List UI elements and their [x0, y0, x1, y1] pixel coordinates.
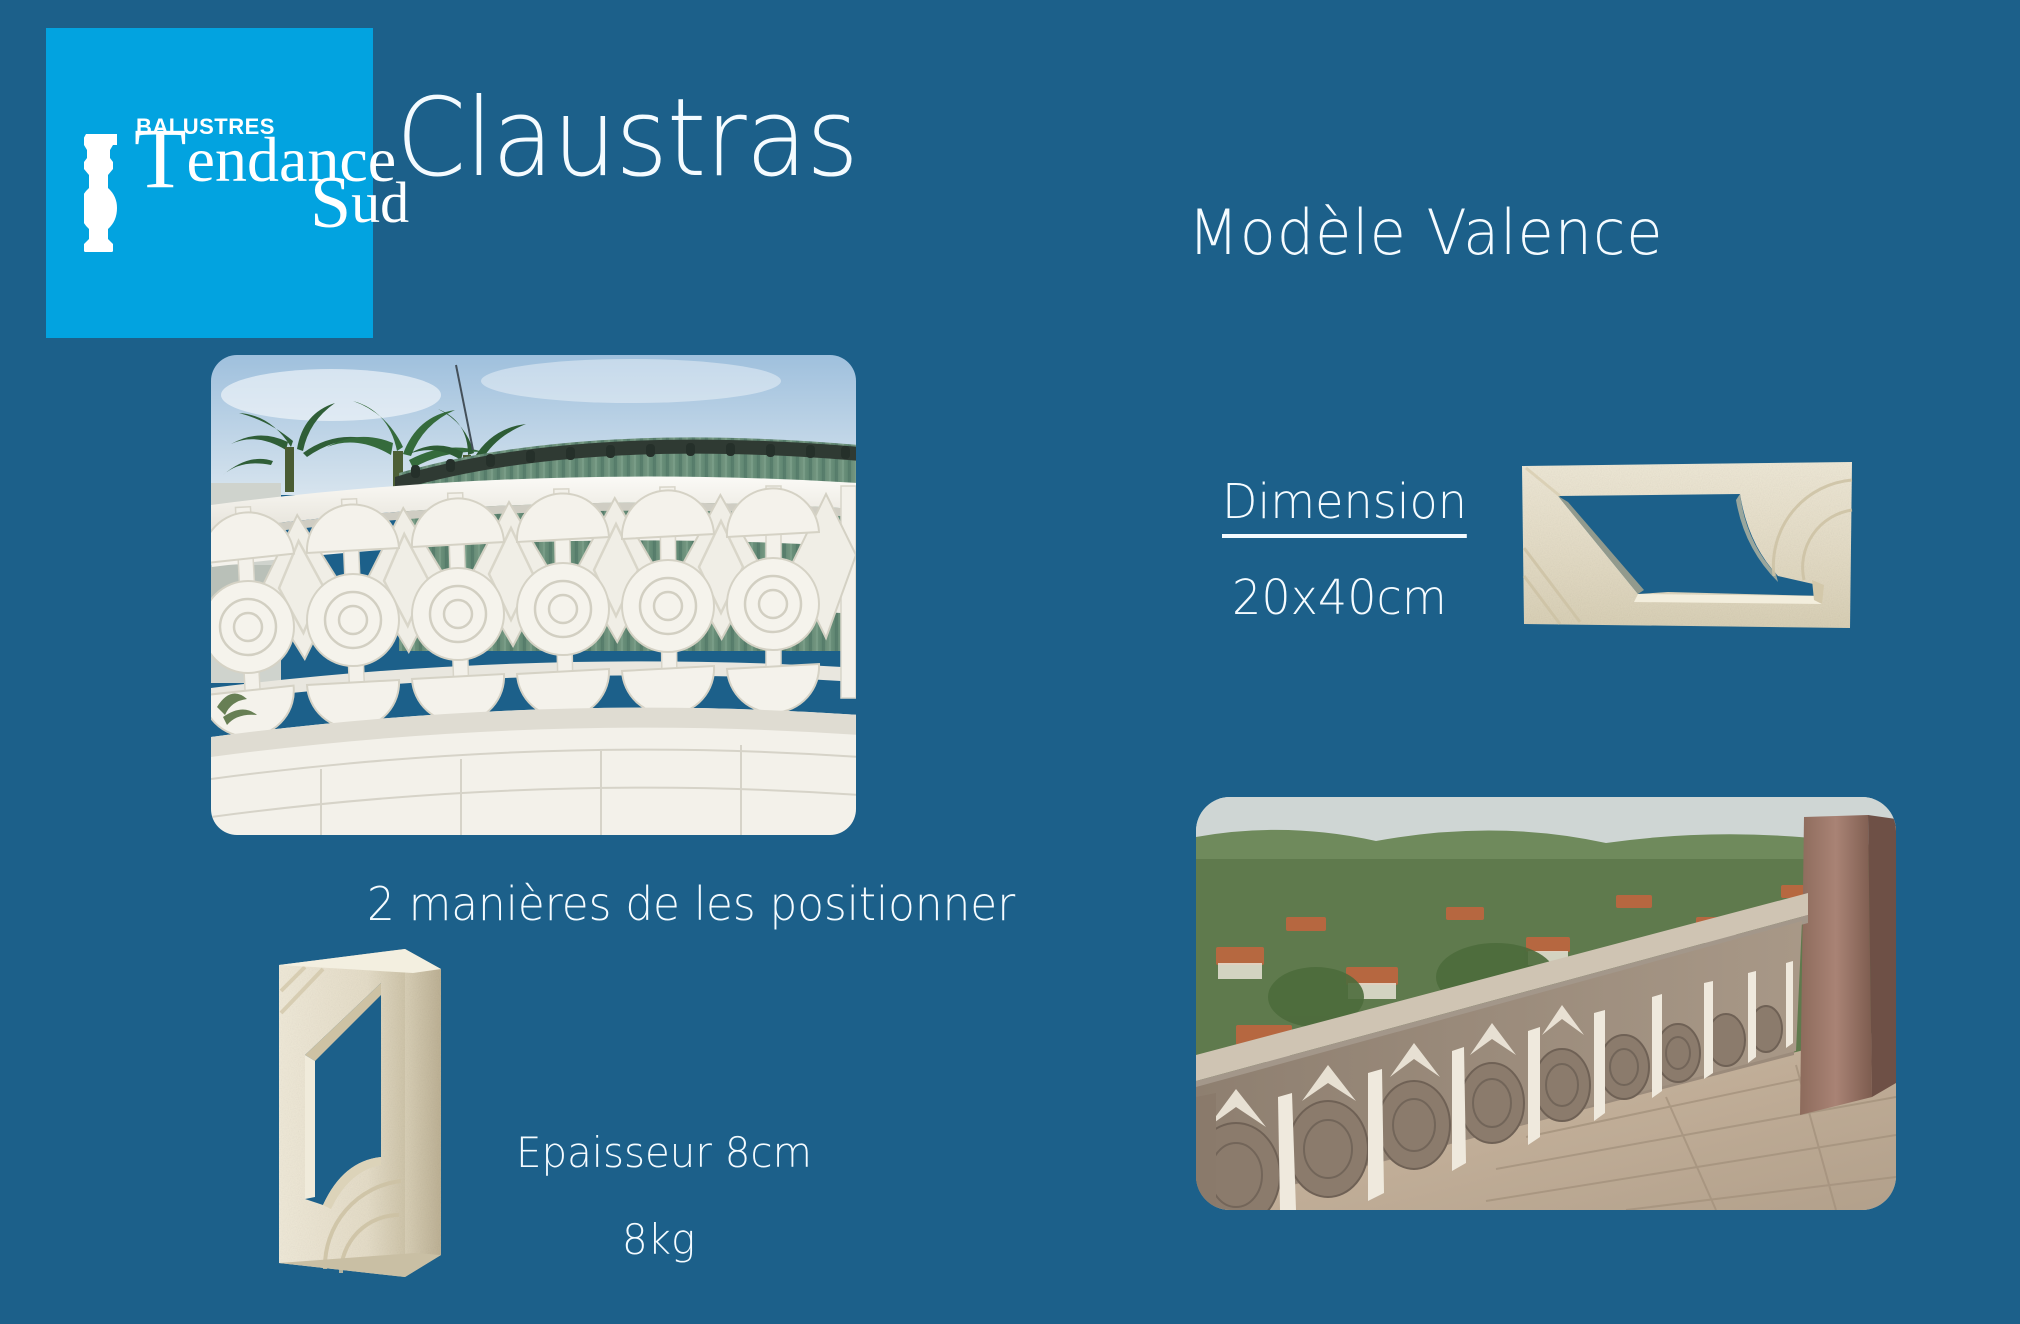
- claustra-block-horizontal: [1516, 452, 1856, 637]
- dimension-value: 20x40cm: [1232, 570, 1447, 626]
- logo-tendance-initial: T: [134, 110, 187, 206]
- balcony-railing-photo: [1196, 797, 1896, 1210]
- weight-label: 8kg: [622, 1215, 695, 1264]
- balustre-icon: [84, 134, 119, 252]
- dimension-label: Dimension: [1222, 474, 1467, 538]
- model-title: Modèle Valence: [1188, 200, 1663, 265]
- claustra-wall-photo: [211, 355, 856, 835]
- claustra-block-vertical: [265, 943, 457, 1281]
- brand-logo: BALUSTRES Tendance Sud: [46, 28, 373, 338]
- page-title: Claustras: [396, 82, 858, 195]
- logo-sud-initial: S: [310, 162, 351, 244]
- slide-canvas: BALUSTRES Tendance Sud Claustras Modèle …: [0, 0, 2020, 1324]
- logo-lockup: BALUSTRES Tendance Sud: [84, 114, 354, 254]
- logo-sud-text: Sud: [310, 174, 409, 232]
- positioning-caption: 2 manières de les positionner: [367, 877, 1015, 931]
- thickness-label: Epaisseur 8cm: [516, 1128, 812, 1177]
